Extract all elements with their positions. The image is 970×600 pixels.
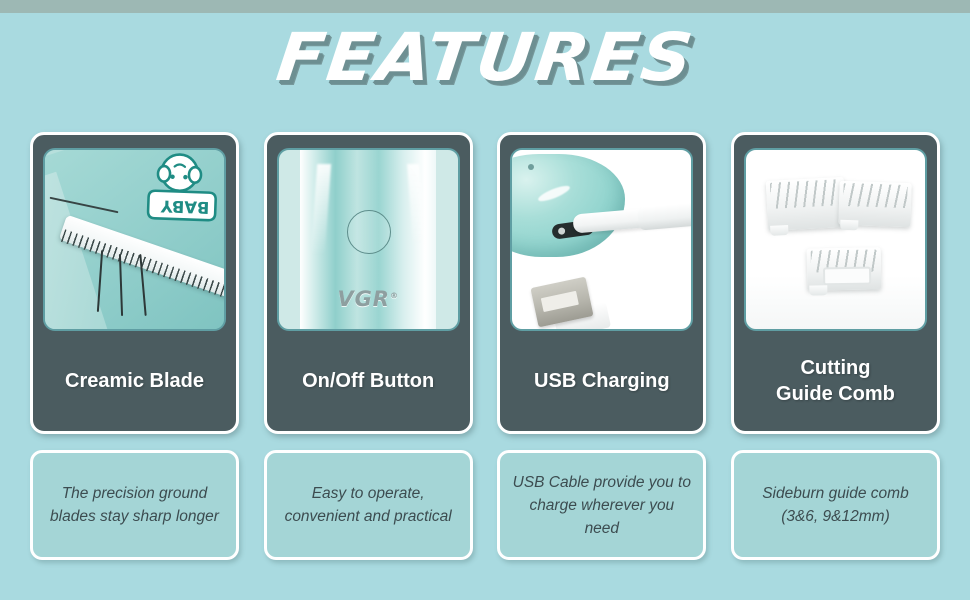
- feature-card-label-line1: On/Off Button: [273, 368, 464, 394]
- feature-card-label: Cutting Guide Comb: [734, 331, 937, 431]
- caption-text: USB Cable provide you to charge wherever…: [510, 471, 693, 540]
- feature-card-creamic-blade[interactable]: BABY Creamic Blade: [30, 132, 239, 434]
- feature-card-label: Creamic Blade: [33, 331, 236, 431]
- features-infographic: FEATURES: [0, 0, 970, 600]
- vgr-brand-text: VGR: [337, 287, 390, 311]
- feature-card-cutting-guide-comb[interactable]: Cutting Guide Comb: [731, 132, 940, 434]
- feature-card-label-line1: USB Charging: [506, 368, 697, 394]
- caption-text: Sideburn guide comb (3&6, 9&12mm): [744, 482, 927, 528]
- feature-card-label-line1: Creamic Blade: [39, 368, 230, 394]
- feature-card-on-off-button[interactable]: VGR® On/Off Button: [264, 132, 473, 434]
- usb-charging-photo: [510, 148, 693, 331]
- feature-card-usb-charging[interactable]: USB Charging: [497, 132, 706, 434]
- feature-caption-usb-charging: USB Cable provide you to charge wherever…: [497, 450, 706, 560]
- guide-comb-medium: [838, 181, 911, 227]
- comb-foot: [840, 220, 858, 231]
- device-base-dome: [510, 154, 625, 258]
- comb-foot: [771, 225, 789, 236]
- guide-comb-large: [766, 177, 847, 231]
- svg-text:BABY: BABY: [160, 196, 209, 217]
- feature-caption-cutting-guide-comb: Sideburn guide comb (3&6, 9&12mm): [731, 450, 940, 560]
- ceramic-blade-photo: BABY: [43, 148, 226, 331]
- feature-caption-on-off-button: Easy to operate, convenient and practica…: [264, 450, 473, 560]
- feature-card-label: On/Off Button: [267, 331, 470, 431]
- comb-slot: [823, 266, 871, 285]
- baby-logo-icon: BABY: [139, 151, 220, 228]
- on-off-button-photo: VGR®: [277, 148, 460, 331]
- feature-captions-row: The precision ground blades stay sharp l…: [30, 450, 940, 560]
- page-title-area: FEATURES: [0, 22, 970, 102]
- feature-card-label-line1: Cutting: [740, 355, 931, 381]
- vgr-brand-logo: VGR®: [279, 287, 458, 311]
- guide-comb-small: [806, 247, 881, 290]
- feature-card-label: USB Charging: [500, 331, 703, 431]
- feature-cards-row: BABY Creamic Blade: [30, 132, 940, 434]
- caption-text: Easy to operate, convenient and practica…: [277, 482, 460, 528]
- feature-card-label-line2: Guide Comb: [740, 381, 931, 407]
- cable-connector-tip: [637, 203, 694, 231]
- power-button-icon[interactable]: [347, 210, 391, 254]
- feature-caption-creamic-blade: The precision ground blades stay sharp l…: [30, 450, 239, 560]
- comb-foot: [809, 285, 827, 295]
- comb-teeth: [843, 183, 908, 208]
- page-title: FEATURES: [272, 22, 697, 94]
- comb-teeth: [770, 179, 841, 209]
- caption-text: The precision ground blades stay sharp l…: [43, 482, 226, 528]
- top-accent-band: [0, 0, 970, 13]
- cutting-guide-comb-photo: [744, 148, 927, 331]
